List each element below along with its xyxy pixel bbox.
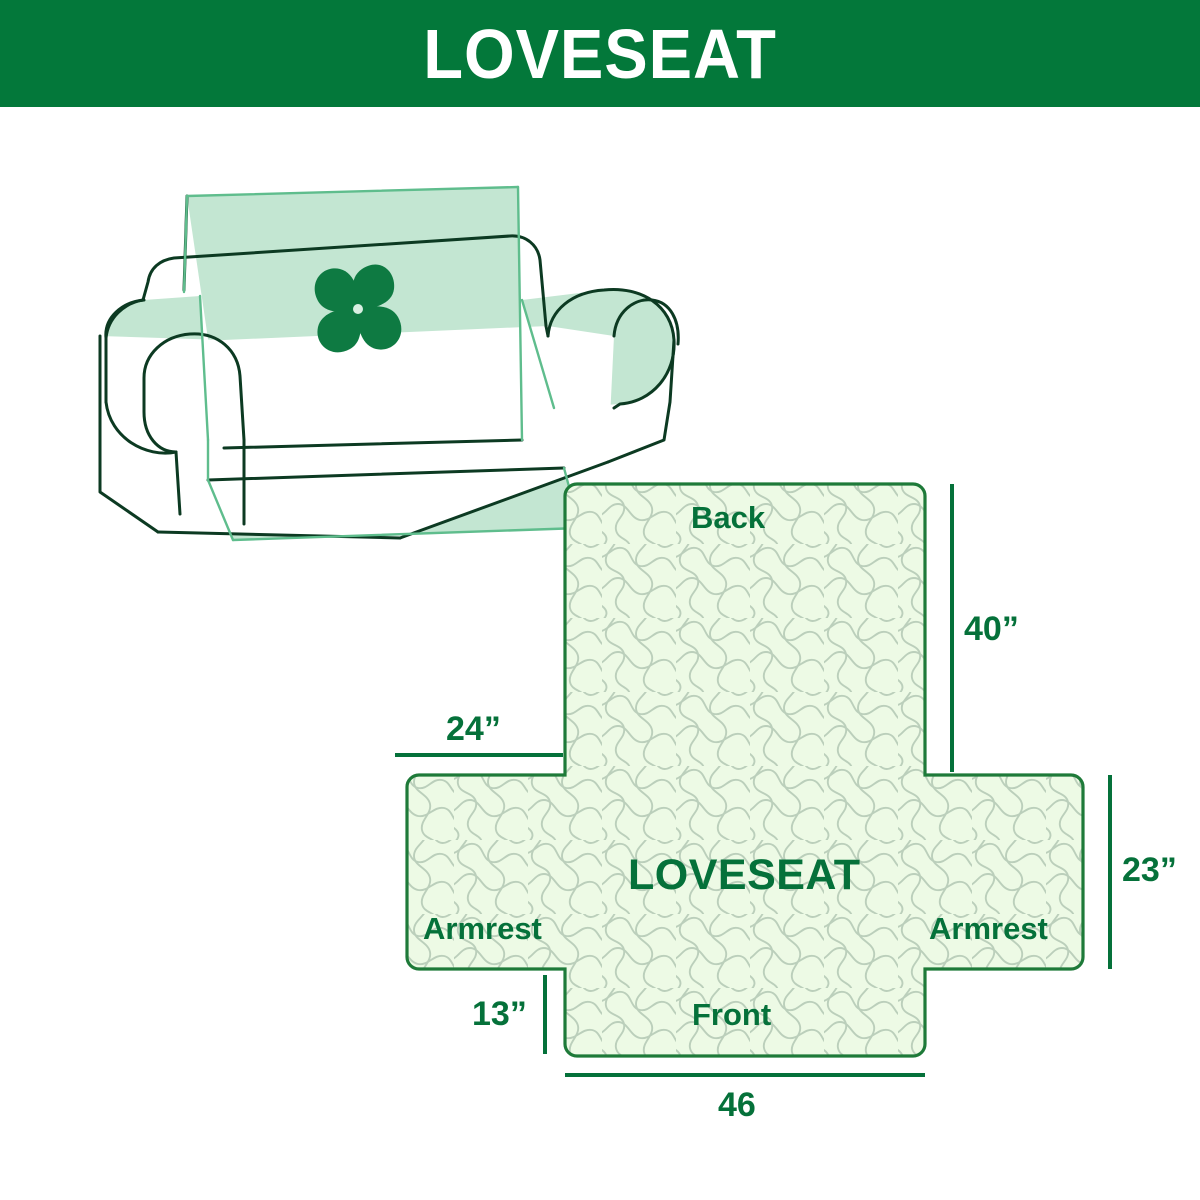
panel-label-center: LOVESEAT bbox=[628, 854, 861, 897]
page-root: LOVESEAT bbox=[0, 0, 1200, 1200]
dim-label-back-height: 40” bbox=[964, 612, 1019, 646]
dim-label-seat-height: 23” bbox=[1122, 853, 1177, 887]
page-title: LOVESEAT bbox=[423, 19, 776, 89]
header-banner: LOVESEAT bbox=[0, 0, 1200, 107]
panel-label-armrest-right: Armrest bbox=[929, 913, 1048, 944]
panel-label-front: Front bbox=[692, 999, 771, 1030]
panel-label-armrest-left: Armrest bbox=[423, 913, 542, 944]
cover-outline bbox=[407, 484, 1083, 1056]
flat-cover-pattern-diagram: Back LOVESEAT Armrest Armrest Front 40” … bbox=[380, 470, 1180, 1130]
dim-label-total-width: 46 bbox=[718, 1088, 756, 1122]
panel-label-back: Back bbox=[691, 502, 765, 533]
dim-label-armrest-width: 24” bbox=[446, 712, 501, 746]
dim-label-front-height: 13” bbox=[472, 997, 527, 1031]
